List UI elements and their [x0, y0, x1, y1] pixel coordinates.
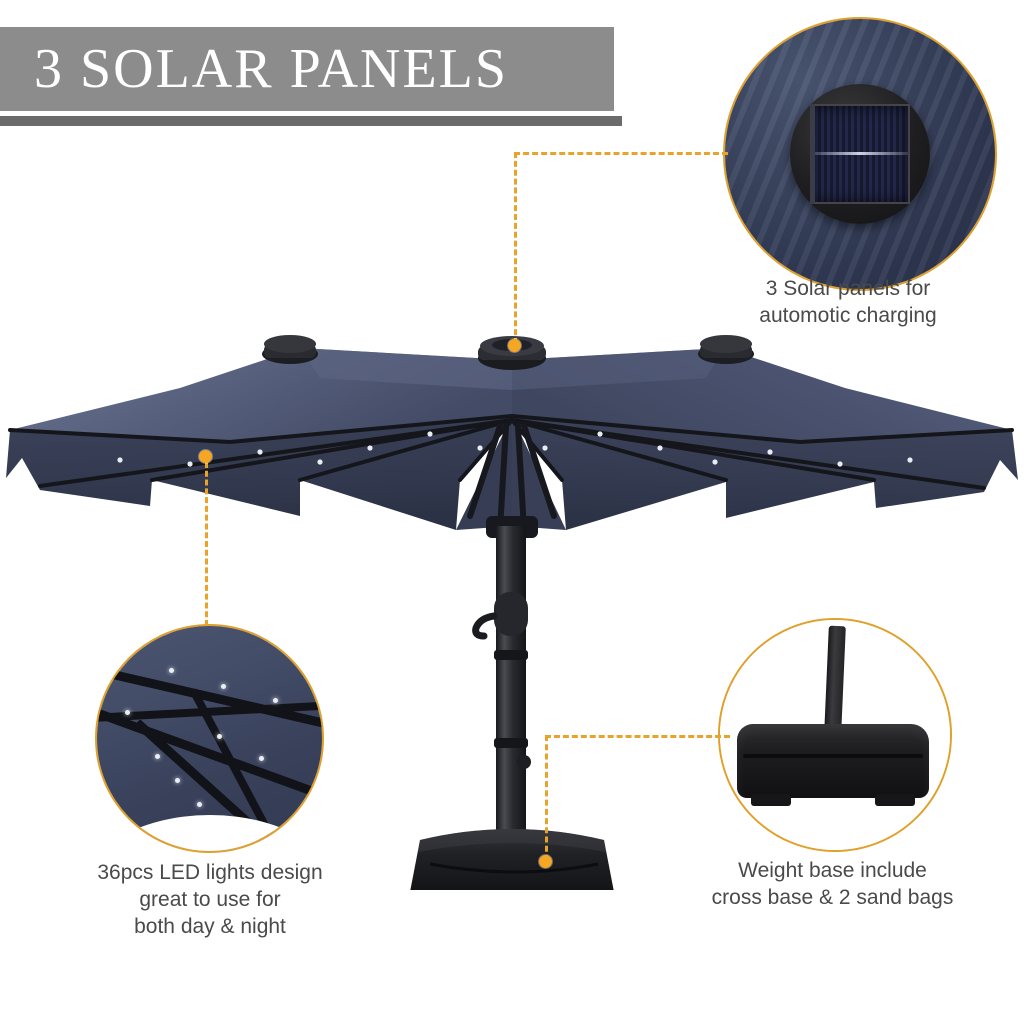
led-underside-photo [97, 626, 322, 851]
callout-led-lights-photo [95, 624, 324, 853]
led-dot [175, 778, 180, 783]
solar-hub-right [698, 335, 754, 364]
solar-hub-left [262, 335, 318, 364]
weight-base-photo [720, 620, 950, 850]
led-dot [221, 684, 226, 689]
solar-housing [790, 84, 930, 224]
connector-solar-horizontal [514, 152, 728, 155]
led-dot [125, 710, 130, 715]
solar-panel-photo [725, 19, 995, 289]
solar-cell [810, 104, 910, 204]
led-dot [169, 668, 174, 673]
led-dot [273, 698, 278, 703]
pin-dot-base-icon [539, 855, 552, 868]
infographic-canvas: 3 SOLAR PANELS [0, 0, 1024, 1024]
crank-handle [476, 616, 494, 636]
connector-led-vertical [205, 462, 208, 626]
led-dot [155, 754, 160, 759]
umbrella-base [410, 829, 614, 890]
callout-weight-base-photo [718, 618, 952, 852]
base-photo-pole [824, 626, 846, 735]
header-banner: 3 SOLAR PANELS [0, 27, 614, 111]
connector-solar-vertical [514, 152, 517, 344]
connector-base-vertical [545, 735, 548, 861]
pin-dot-solar-icon [508, 339, 521, 352]
led-dot [217, 734, 222, 739]
base-photo-foot [875, 794, 915, 806]
pin-dot-led-icon [199, 450, 212, 463]
base-photo-body [737, 724, 929, 798]
callout-led-lights-caption: 36pcs LED lights design great to use for… [30, 860, 390, 941]
header-underline-rule [0, 116, 622, 126]
page-title: 3 SOLAR PANELS [0, 41, 508, 97]
height-adjust-knob [517, 755, 531, 769]
base-photo-foot [751, 794, 791, 806]
crank-housing [494, 592, 528, 636]
connector-base-horizontal [545, 735, 730, 738]
led-dot [259, 756, 264, 761]
led-dot [197, 802, 202, 807]
callout-solar-panels-photo [723, 17, 997, 291]
callout-weight-base-caption: Weight base include cross base & 2 sand … [635, 858, 1024, 912]
callout-solar-panels-caption: 3 Solar panels for automotic charging [668, 276, 1024, 330]
